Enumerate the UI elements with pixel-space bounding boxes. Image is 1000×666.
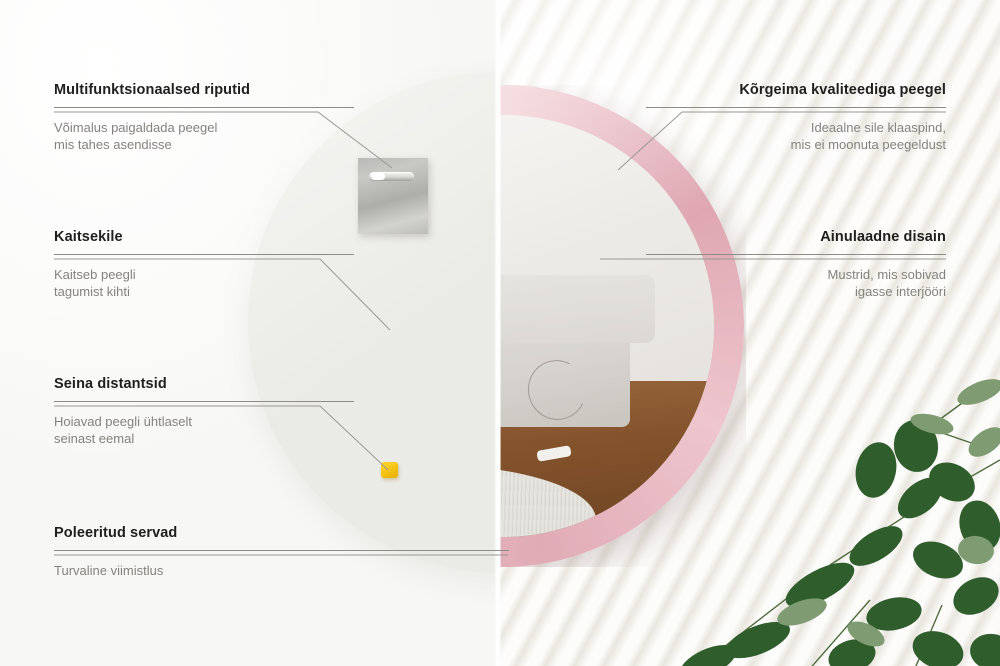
callout-rule — [54, 401, 354, 402]
callout-rule — [54, 107, 354, 108]
wall-spacer — [381, 462, 398, 478]
reflected-sofa-backrest — [500, 275, 655, 343]
eucalyptus-foliage — [680, 350, 1000, 666]
callout-body: Võimalus paigaldada peegel mis tahes ase… — [54, 119, 354, 154]
reflected-lamp-arc — [520, 352, 594, 427]
callout-unique-design: Ainulaadne disain Mustrid, mis sobivad i… — [646, 229, 946, 301]
callout-rule — [646, 254, 946, 255]
callout-wall-spacers: Seina distantsid Hoiavad peegli ühtlasel… — [54, 376, 354, 448]
callout-body: Hoiavad peegli ühtlaselt seinast eemal — [54, 413, 354, 448]
callout-title: Kaitsekile — [54, 229, 354, 245]
reflected-rug — [500, 465, 596, 537]
callout-multifunctional-hangers: Multifunktsionaalsed riputid Võimalus pa… — [54, 82, 354, 154]
reflected-sofa — [500, 313, 630, 427]
callout-body: Ideaalne sile klaaspind, mis ei moonuta … — [646, 119, 946, 154]
callout-body: Mustrid, mis sobivad igasse interjööri — [646, 266, 946, 301]
reflected-lamp-base — [536, 446, 571, 463]
callout-title: Multifunktsionaalsed riputid — [54, 82, 354, 98]
callout-body: Turvaline viimistlus — [54, 562, 509, 579]
callout-rule — [646, 107, 946, 108]
callout-title: Seina distantsid — [54, 376, 354, 392]
callout-protective-film: Kaitsekile Kaitseb peegli tagumist kihti — [54, 229, 354, 301]
callout-polished-edges: Poleeritud servad Turvaline viimistlus — [54, 525, 509, 579]
callout-title: Ainulaadne disain — [646, 229, 946, 245]
hanger-slot-icon — [369, 172, 414, 181]
product-infographic: Multifunktsionaalsed riputid Võimalus pa… — [0, 0, 1000, 666]
hanger-plate — [358, 158, 428, 234]
callout-rule — [54, 550, 509, 551]
callout-body: Kaitseb peegli tagumist kihti — [54, 266, 354, 301]
callout-title: Kõrgeima kvaliteediga peegel — [646, 82, 946, 98]
callout-title: Poleeritud servad — [54, 525, 509, 541]
callout-highest-quality-mirror: Kõrgeima kvaliteediga peegel Ideaalne si… — [646, 82, 946, 154]
callout-rule — [54, 254, 354, 255]
